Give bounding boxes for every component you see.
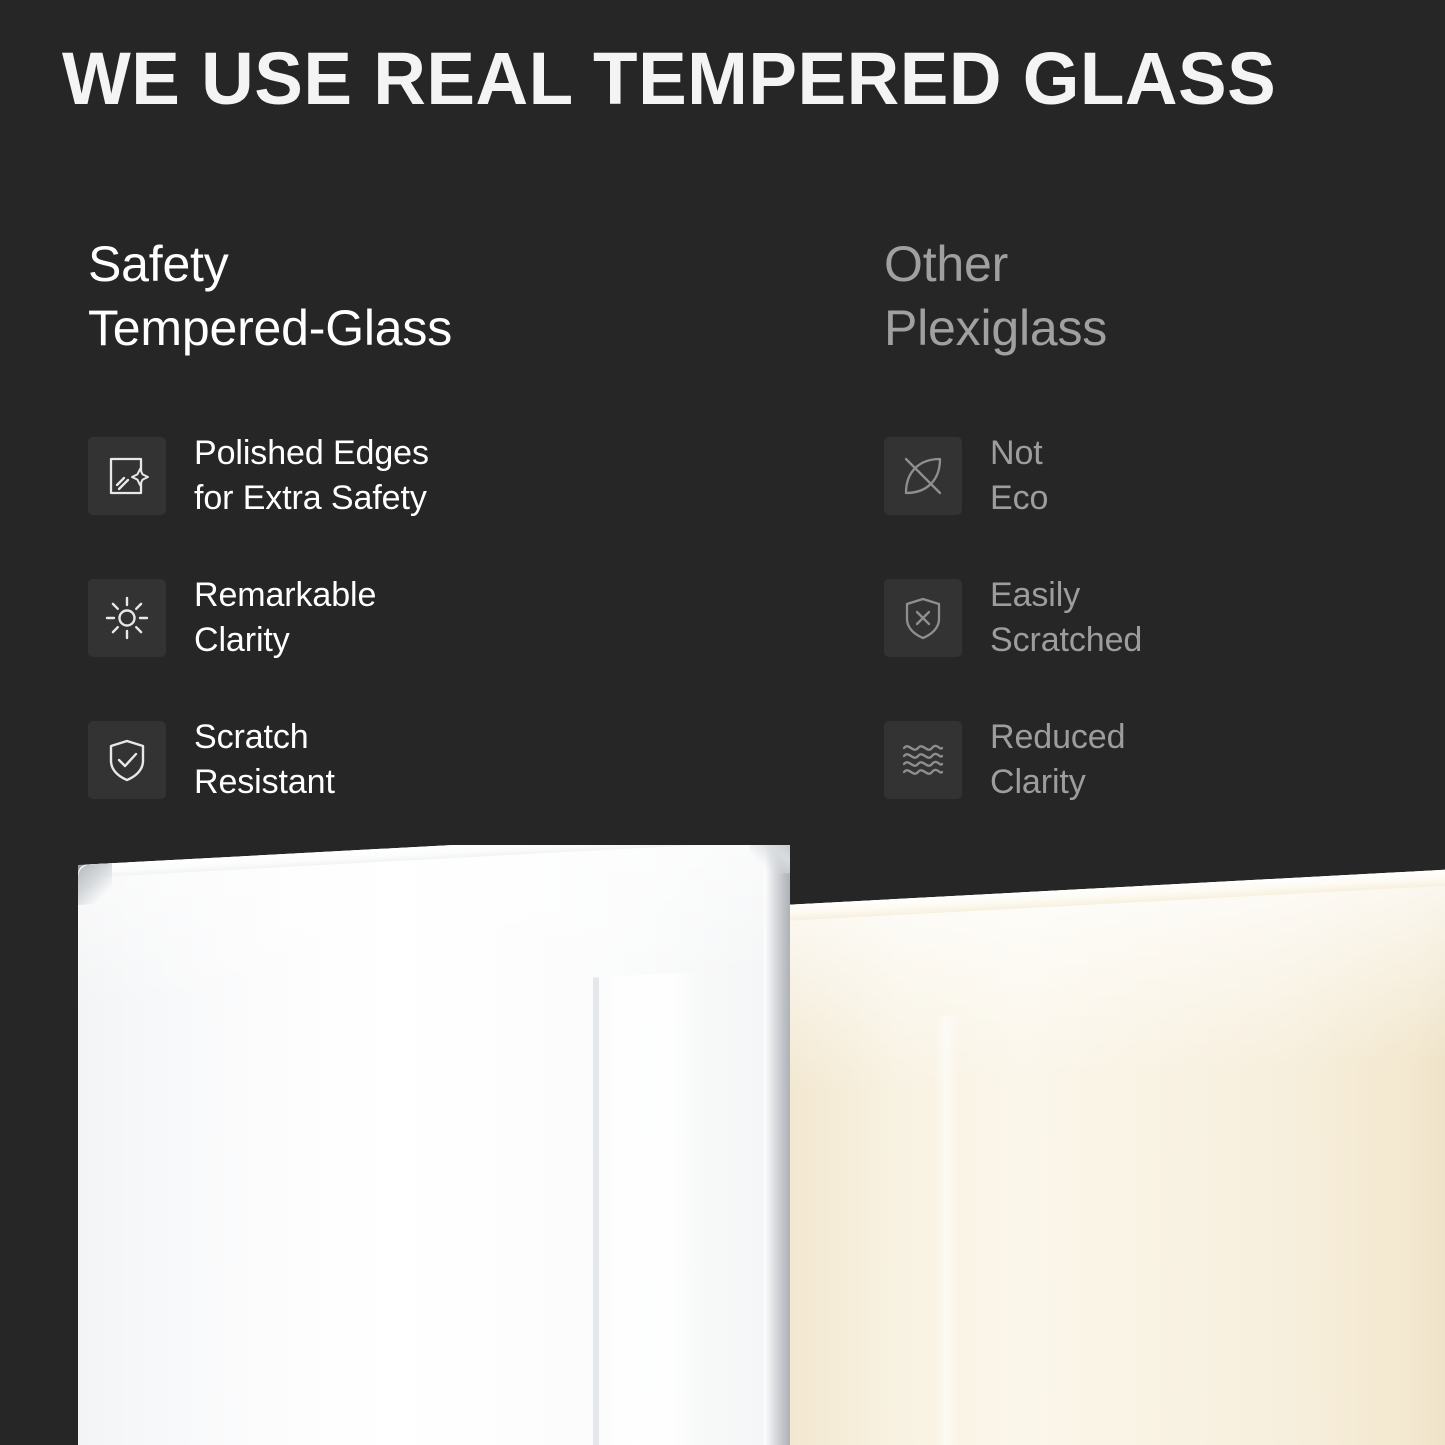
feature-label-line: Reduced: [990, 715, 1125, 760]
tempered-glass-corner-highlight-left: [78, 863, 112, 905]
leaf-crossed-out-icon: [884, 437, 962, 515]
feature-label-line: for Extra Safety: [194, 476, 429, 521]
feature-label: Scratch Resistant: [194, 715, 335, 805]
sun-brightness-icon: [88, 579, 166, 657]
feature-label: Reduced Clarity: [990, 715, 1125, 805]
tempered-glass-corner-highlight-right: [750, 845, 790, 875]
feature-label-line: Not: [990, 431, 1048, 476]
feature-label: Polished Edges for Extra Safety: [194, 431, 429, 521]
feature-item: Reduced Clarity: [884, 714, 1429, 806]
wavy-lines-distortion-icon: [884, 721, 962, 799]
feature-item: Scratch Resistant: [88, 714, 848, 806]
feature-label-line: Eco: [990, 476, 1048, 521]
feature-list-tempered-glass: Polished Edges for Extra Safety: [88, 430, 848, 806]
feature-label-line: Resistant: [194, 760, 335, 805]
feature-label-line: Clarity: [194, 618, 376, 663]
column-title-line: Tempered-Glass: [88, 296, 848, 360]
plexiglass-panel: [784, 868, 1445, 1445]
feature-item: Easily Scratched: [884, 572, 1429, 664]
column-title-tempered-glass: Safety Tempered-Glass: [88, 232, 848, 360]
feature-label: Not Eco: [990, 431, 1048, 521]
polished-glass-pane-sparkle-icon: [88, 437, 166, 515]
feature-item: Polished Edges for Extra Safety: [88, 430, 848, 522]
feature-label: Remarkable Clarity: [194, 573, 376, 663]
column-plexiglass: Other Plexiglass Not Eco: [884, 232, 1429, 806]
feature-list-plexiglass: Not Eco Easily Scratched: [884, 430, 1429, 806]
feature-item: Remarkable Clarity: [88, 572, 848, 664]
shield-x-icon: [884, 579, 962, 657]
feature-label-line: Scratched: [990, 618, 1142, 663]
tempered-glass-reflection-band: [598, 972, 698, 1445]
column-title-line: Safety: [88, 232, 848, 296]
column-title-line: Other: [884, 232, 1429, 296]
comparison-section: Safety Tempered-Glass Polished Edges for…: [0, 232, 1445, 852]
tempered-glass-panel: [78, 845, 790, 1445]
shield-check-icon: [88, 721, 166, 799]
feature-label-line: Clarity: [990, 760, 1125, 805]
plexiglass-reflection-band: [934, 1016, 958, 1445]
feature-label: Easily Scratched: [990, 573, 1142, 663]
page-title: WE USE REAL TEMPERED GLASS: [62, 42, 1375, 116]
column-title-line: Plexiglass: [884, 296, 1429, 360]
feature-label-line: Remarkable: [194, 573, 376, 618]
column-tempered-glass: Safety Tempered-Glass Polished Edges for…: [88, 232, 848, 806]
product-panels-image: [0, 845, 1445, 1445]
feature-item: Not Eco: [884, 430, 1429, 522]
feature-label-line: Scratch: [194, 715, 335, 760]
column-title-plexiglass: Other Plexiglass: [884, 232, 1429, 360]
feature-label-line: Easily: [990, 573, 1142, 618]
tempered-glass-right-edge: [764, 845, 790, 1445]
feature-label-line: Polished Edges: [194, 431, 429, 476]
